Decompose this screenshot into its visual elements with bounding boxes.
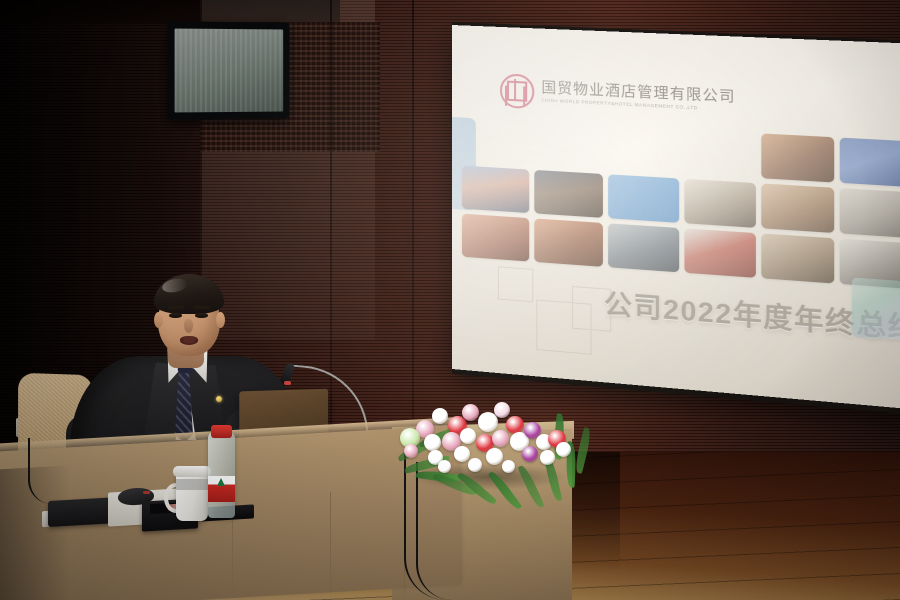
flower-blossom	[502, 460, 515, 473]
flower-blossom	[486, 448, 503, 465]
tile-haze	[761, 183, 834, 233]
floral-arrangement	[398, 368, 583, 493]
water-bottle[interactable]	[208, 432, 235, 518]
flower-blossom	[540, 450, 555, 465]
slide-logo: 国贸物业酒店管理有限公司 CHINA WORLD PROPERTY&HOTEL …	[500, 73, 736, 119]
tile-empty-1	[462, 118, 529, 165]
water-bottle-cap	[211, 425, 232, 438]
tile-solid-blue	[608, 174, 678, 223]
mug-lid[interactable]	[173, 466, 211, 477]
tablecloth-fold-2	[330, 492, 331, 600]
flower-blossom	[494, 402, 510, 418]
tile-haze	[840, 188, 900, 238]
tile-photo-ceremony-hall	[534, 218, 603, 266]
tile-empty-2	[534, 121, 603, 169]
presenter-eye-left	[169, 313, 182, 318]
tile-photo-blue-banner	[840, 138, 900, 188]
presenter-eye-right	[195, 313, 208, 318]
tile-haze	[462, 166, 529, 213]
tile-haze	[608, 174, 678, 223]
flower-blossom	[432, 408, 448, 424]
flower-blossom	[468, 458, 482, 472]
tile-photo-red-drums	[684, 228, 756, 278]
presenter-lapel-pin	[216, 396, 222, 402]
mug-pattern-band	[176, 479, 208, 490]
tile-photo-gallery-visitors	[840, 188, 900, 238]
wall-mounted-monitor[interactable]	[167, 21, 289, 119]
flower-blossom	[556, 442, 571, 457]
slide-accent-tile	[852, 277, 900, 340]
tile-haze	[462, 214, 529, 262]
tile-photo-city-skyline-dusk	[462, 166, 529, 213]
tile-photo-workers-vests	[608, 223, 678, 272]
flower-foliage	[398, 402, 583, 488]
presenter-hair	[154, 274, 224, 314]
tile-photo-handshake	[761, 133, 834, 182]
tile-photo-housekeeping-room	[761, 183, 834, 233]
presenter-ear-left	[154, 312, 163, 328]
flower-blossom	[522, 446, 538, 462]
presenter-nose	[184, 319, 193, 333]
gooseneck-mic-indicator	[284, 381, 291, 385]
flower-blossom	[454, 446, 470, 462]
conference-photo-scene: 国贸物业酒店管理有限公司 CHINA WORLD PROPERTY&HOTEL …	[0, 0, 900, 600]
flower-blossom	[462, 404, 479, 421]
tile-photo-lobby-staff	[684, 179, 756, 228]
tile-haze	[840, 138, 900, 188]
tile-photo-banquet-greeter	[462, 214, 529, 262]
tile-haze	[608, 223, 678, 272]
flower-blossom	[424, 434, 441, 451]
projection-screen: 国贸物业酒店管理有限公司 CHINA WORLD PROPERTY&HOTEL …	[452, 25, 900, 410]
presenter-mouth	[180, 336, 198, 345]
flower-blossom	[404, 444, 418, 458]
water-bottle-leaf-icon	[217, 478, 225, 486]
tile-photo-training-session	[761, 233, 834, 283]
company-logo-icon	[500, 73, 534, 109]
tile-haze	[534, 218, 603, 266]
flower-blossom	[492, 430, 509, 447]
tile-empty-4	[684, 129, 756, 178]
monitor-screen	[175, 29, 284, 113]
tile-photo-tower-night	[534, 170, 603, 218]
square-small	[498, 266, 533, 302]
tile-haze	[684, 179, 756, 228]
tile-haze	[761, 233, 834, 283]
chair-cable	[28, 438, 52, 504]
tile-haze	[761, 133, 834, 182]
presenter-ear-right	[216, 312, 225, 328]
tile-haze	[534, 170, 603, 218]
presentation-slide: 国贸物业酒店管理有限公司 CHINA WORLD PROPERTY&HOTEL …	[452, 25, 900, 410]
flower-blossom	[438, 460, 451, 473]
tile-haze	[684, 228, 756, 278]
mouse-indicator	[143, 491, 150, 494]
tile-empty-3	[608, 125, 678, 173]
slide-decorative-squares	[498, 266, 600, 345]
flower-blossom	[460, 428, 476, 444]
